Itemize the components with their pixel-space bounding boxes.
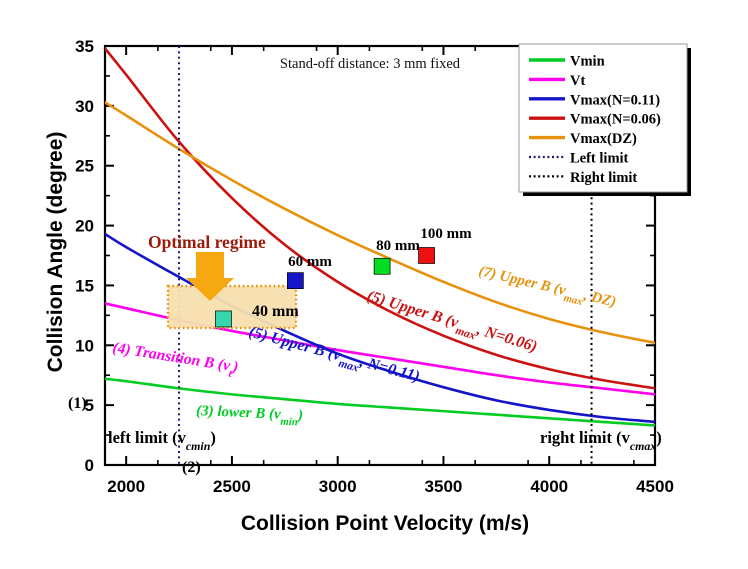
data-point-marker-80mm[interactable]	[374, 258, 390, 274]
annotation-label-1: (1)	[68, 395, 87, 412]
legend-label: Vmax(N=0.11)	[570, 92, 660, 108]
x-tick-label: 3500	[425, 477, 463, 496]
annotation-left-limit: left limit (vcmin)	[108, 428, 216, 453]
y-tick-label: 0	[85, 456, 94, 475]
x-tick-label: 3000	[319, 477, 357, 496]
y-tick-label: 30	[75, 97, 94, 116]
svg-text:(7) Upper B (vmax, DZ): (7) Upper B (vmax, DZ)	[476, 263, 618, 315]
svg-text:Optimal regime: Optimal regime	[148, 232, 266, 252]
x-tick-label: 4500	[636, 477, 674, 496]
svg-text:(2): (2)	[182, 459, 201, 476]
legend-label: Vmax(DZ)	[570, 131, 637, 147]
annotation-optimal-regime: Optimal regime	[148, 232, 266, 252]
data-point-marker-100mm[interactable]	[419, 248, 435, 264]
standoff-note-text: Stand-off distance: 3 mm fixed	[280, 56, 461, 72]
svg-text:left limit (vcmin): left limit (vcmin)	[108, 428, 216, 453]
data-point-label-60mm: 60 mm	[288, 254, 332, 270]
legend-box[interactable]: VminVtVmax(N=0.11)Vmax(N=0.06)Vmax(DZ)Le…	[519, 44, 691, 196]
annotation-upper-b-dz: (7) Upper B (vmax, DZ)	[476, 263, 618, 315]
chart-canvas: 20002500300035004000450005101520253035 4…	[0, 0, 748, 569]
svg-text:right limit (vcmax): right limit (vcmax)	[540, 428, 662, 453]
svg-text:(4) Transition B (vt): (4) Transition B (vt)	[111, 339, 240, 381]
x-tick-label: 2000	[107, 477, 145, 496]
y-tick-label: 25	[75, 157, 94, 176]
y-tick-label: 35	[75, 37, 94, 56]
svg-text:(1): (1)	[68, 395, 87, 412]
annotation-transition-b: (4) Transition B (vt)	[111, 339, 240, 381]
annotation-upper-b-n011: (5) Upper B (vmax, N=0.11)	[246, 323, 422, 390]
data-point-label-80mm: 80 mm	[376, 238, 420, 254]
annotation-lower-b: (3) lower B (vmin)	[196, 403, 304, 429]
annotations-layer: Optimal regime(1)(2)left limit (vcmin)ri…	[68, 232, 662, 476]
legend-label: Left limit	[570, 151, 629, 167]
annotation-upper-b-n006: (5) Upper B (vmax, N=0.06)	[363, 288, 539, 361]
data-point-marker-40mm[interactable]	[215, 311, 231, 327]
legend-label: Vmax(N=0.06)	[570, 112, 661, 128]
data-point-marker-60mm[interactable]	[287, 273, 303, 289]
annotation-right-limit: right limit (vcmax)	[540, 428, 662, 453]
legend-label: Right limit	[570, 170, 637, 186]
y-tick-label: 15	[75, 276, 94, 295]
annotation-label-2: (2)	[182, 459, 201, 476]
svg-text:(3) lower B (vmin): (3) lower B (vmin)	[196, 403, 304, 429]
chart-root: Collision Angle (degree) Collision Point…	[0, 0, 748, 569]
data-point-label-100mm: 100 mm	[420, 226, 472, 242]
y-tick-label: 10	[75, 336, 94, 355]
svg-text:(5) Upper B (vmax, N=0.11): (5) Upper B (vmax, N=0.11)	[246, 323, 422, 390]
x-tick-label: 2500	[213, 477, 251, 496]
data-point-label-40mm: 40 mm	[252, 303, 299, 320]
legend-label: Vt	[570, 73, 585, 89]
standoff-note: Stand-off distance: 3 mm fixed	[280, 56, 461, 72]
svg-text:(5) Upper B (vmax, N=0.06): (5) Upper B (vmax, N=0.06)	[363, 288, 539, 361]
y-tick-label: 20	[75, 217, 94, 236]
x-tick-label: 4000	[530, 477, 568, 496]
legend-label: Vmin	[570, 54, 605, 70]
